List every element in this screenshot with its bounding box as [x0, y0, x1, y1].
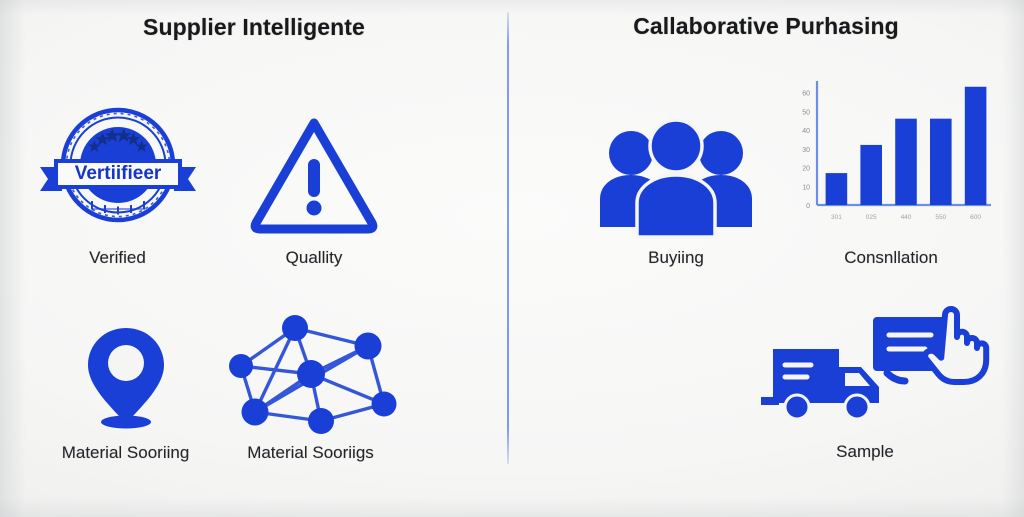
y-tick-label: 50 [802, 109, 810, 116]
warning-triangle-icon [248, 111, 380, 239]
panel-title-left: Supplier Intelligente [0, 14, 508, 41]
feature-caption-verified: Verified [89, 248, 146, 268]
feature-quality[interactable]: Quallity [224, 78, 404, 268]
bar [895, 119, 917, 205]
feature-sample[interactable]: Sample [750, 282, 980, 462]
panel-divider [507, 12, 509, 464]
feature-caption-material-sourcing: Material Sooriing [62, 443, 190, 463]
bar-chart-icon: 0102030405060301025440550600 [783, 71, 999, 239]
feature-caption-sample: Sample [836, 442, 894, 462]
y-tick-label: 20 [802, 166, 810, 173]
feature-network[interactable]: Material Sooriigs [218, 288, 403, 463]
network-graph-icon [218, 312, 404, 434]
x-tick-label: 301 [831, 214, 842, 221]
people-group-icon [595, 117, 757, 239]
y-tick-label: 60 [802, 91, 810, 98]
feature-material-sourcing[interactable]: Material Sooriing [28, 288, 223, 463]
feature-group-buying[interactable]: Buyiing [578, 80, 774, 268]
x-tick-label: 550 [935, 214, 946, 221]
feature-caption-quality: Quallity [286, 248, 343, 268]
bar [860, 145, 882, 205]
panel-supplier-intelligence: Supplier Intelligente [0, 0, 508, 517]
y-tick-label: 40 [802, 128, 810, 135]
bar [965, 87, 987, 205]
bar [826, 173, 848, 205]
y-tick-label: 10 [802, 184, 810, 191]
feature-caption-buying: Buyiing [648, 248, 704, 268]
x-tick-label: 440 [901, 214, 912, 221]
bar [930, 119, 952, 205]
verified-badge-icon: Vertiifieer [29, 99, 207, 239]
x-tick-label: 025 [866, 214, 877, 221]
feature-verified[interactable]: Vertiifieer Verified [20, 78, 215, 268]
delivery-truck-icon [757, 305, 973, 433]
feature-caption-consolidation: Consnllation [844, 248, 938, 268]
verified-badge-text: Vertiifieer [74, 163, 161, 184]
feature-consolidation[interactable]: 0102030405060301025440550600 Consnllatio… [776, 60, 1006, 268]
x-tick-label: 600 [970, 214, 981, 221]
y-tick-label: 0 [806, 203, 810, 210]
map-pin-icon [71, 316, 181, 434]
feature-caption-network: Material Sooriigs [247, 443, 374, 463]
panel-title-right: Callaborative Purhasing [508, 13, 1024, 40]
y-tick-label: 30 [802, 147, 810, 154]
poster-canvas: Supplier Intelligente [0, 0, 1024, 517]
